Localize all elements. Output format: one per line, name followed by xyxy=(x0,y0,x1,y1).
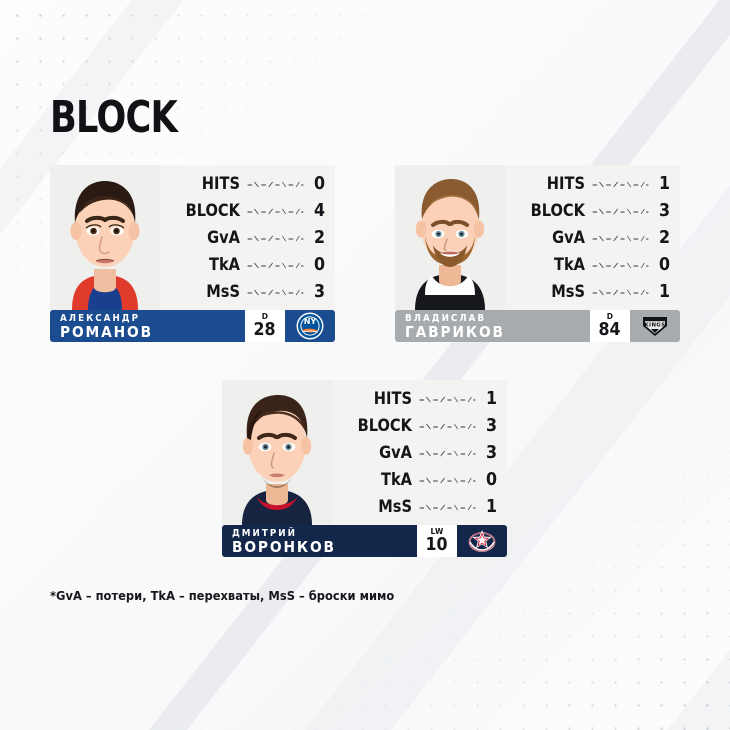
player-nameplate: ДМИТРИЙ ВОРОНКОВ LW 10 xyxy=(222,525,507,557)
player-number-block: D 84 xyxy=(590,310,630,342)
stat-label: MsS xyxy=(347,497,412,517)
stat-leader-line xyxy=(247,287,304,297)
stat-label: BLOCK xyxy=(520,201,585,221)
player-name-block: ДМИТРИЙ ВОРОНКОВ xyxy=(222,525,417,557)
kings-logo: KINGS xyxy=(630,310,680,342)
stat-label: BLOCK xyxy=(175,201,240,221)
player-card: HITS1BLOCK3GvA3TkA0MsS1 ДМИТРИЙ ВОРОНКОВ… xyxy=(222,380,507,557)
stat-label: TkA xyxy=(520,255,585,275)
player-stats-list: HITS0BLOCK4GvA2TkA0MsS3 xyxy=(160,165,335,310)
stat-value: 3 xyxy=(485,442,497,463)
player-name-block: АЛЕКСАНДР РОМАНОВ xyxy=(50,310,245,342)
stat-row: BLOCK3 xyxy=(509,197,670,224)
player-stats-list: HITS1BLOCK3GvA3TkA0MsS1 xyxy=(332,380,507,525)
stat-label: TkA xyxy=(175,255,240,275)
stat-row: TkA0 xyxy=(509,251,670,278)
player-number: 10 xyxy=(426,536,448,554)
stat-value: 0 xyxy=(658,254,670,275)
player-number-block: D 28 xyxy=(245,310,285,342)
footnote-legend: *GvA – потери, TkA – перехваты, MsS – бр… xyxy=(50,588,394,603)
stat-value: 2 xyxy=(658,227,670,248)
stat-row: GvA2 xyxy=(509,224,670,251)
svg-text:NY: NY xyxy=(304,317,317,326)
page-title: BLOCK xyxy=(50,96,177,140)
infographic-canvas: BLOCK xyxy=(0,0,730,730)
islanders-logo: NY xyxy=(285,310,335,342)
stat-row: HITS1 xyxy=(336,385,497,412)
player-card-body: HITS1BLOCK3GvA3TkA0MsS1 xyxy=(222,380,507,525)
stat-row: MsS1 xyxy=(509,278,670,305)
player-portrait-gavrikov xyxy=(395,165,505,310)
stat-label: TkA xyxy=(347,470,412,490)
stat-leader-line xyxy=(592,287,649,297)
stat-row: HITS0 xyxy=(164,170,325,197)
player-number: 28 xyxy=(254,321,276,339)
player-last-name: ГАВРИКОВ xyxy=(405,324,575,340)
stat-value: 1 xyxy=(658,173,670,194)
stat-label: MsS xyxy=(520,282,585,302)
stat-leader-line xyxy=(419,421,476,431)
stat-row: TkA0 xyxy=(336,466,497,493)
stat-leader-line xyxy=(419,475,476,485)
stat-label: GvA xyxy=(175,228,240,248)
player-card-body: HITS1BLOCK3GvA2TkA0MsS1 xyxy=(395,165,680,310)
stat-leader-line xyxy=(419,502,476,512)
stat-label: GvA xyxy=(347,443,412,463)
stat-value: 3 xyxy=(485,415,497,436)
stat-label: MsS xyxy=(175,282,240,302)
stat-value: 0 xyxy=(313,173,325,194)
stat-leader-line xyxy=(419,394,476,404)
stat-leader-line xyxy=(419,448,476,458)
stat-label: GvA xyxy=(520,228,585,248)
stat-label: HITS xyxy=(175,174,240,194)
stat-leader-line xyxy=(247,260,304,270)
player-last-name: ВОРОНКОВ xyxy=(232,539,402,555)
player-last-name: РОМАНОВ xyxy=(60,324,230,340)
stat-row: BLOCK3 xyxy=(336,412,497,439)
player-portrait-romanov xyxy=(50,165,160,310)
svg-text:KINGS: KINGS xyxy=(644,323,665,329)
player-card: HITS0BLOCK4GvA2TkA0MsS3 АЛЕКСАНДР РОМАНО… xyxy=(50,165,335,342)
player-portrait-voronkov xyxy=(222,380,332,525)
stat-value: 4 xyxy=(313,200,325,221)
stat-value: 0 xyxy=(485,469,497,490)
stat-leader-line xyxy=(592,206,649,216)
stat-value: 1 xyxy=(485,496,497,517)
stat-row: TkA0 xyxy=(164,251,325,278)
player-card-body: HITS0BLOCK4GvA2TkA0MsS3 xyxy=(50,165,335,310)
player-name-block: ВЛАДИСЛАВ ГАВРИКОВ xyxy=(395,310,590,342)
player-card: HITS1BLOCK3GvA2TkA0MsS1 ВЛАДИСЛАВ ГАВРИК… xyxy=(395,165,680,342)
stat-label: HITS xyxy=(347,389,412,409)
stat-value: 0 xyxy=(313,254,325,275)
stat-value: 3 xyxy=(658,200,670,221)
stat-leader-line xyxy=(247,233,304,243)
stat-leader-line xyxy=(592,179,649,189)
stat-row: GvA2 xyxy=(164,224,325,251)
player-nameplate: АЛЕКСАНДР РОМАНОВ D 28 NY xyxy=(50,310,335,342)
stat-label: BLOCK xyxy=(347,416,412,436)
stat-value: 1 xyxy=(658,281,670,302)
stat-row: GvA3 xyxy=(336,439,497,466)
stat-leader-line xyxy=(247,179,304,189)
stat-value: 3 xyxy=(313,281,325,302)
stat-leader-line xyxy=(592,233,649,243)
stat-row: HITS1 xyxy=(509,170,670,197)
stat-leader-line xyxy=(592,260,649,270)
player-stats-list: HITS1BLOCK3GvA2TkA0MsS1 xyxy=(505,165,680,310)
stat-value: 2 xyxy=(313,227,325,248)
stat-label: HITS xyxy=(520,174,585,194)
player-number: 84 xyxy=(599,321,621,339)
player-nameplate: ВЛАДИСЛАВ ГАВРИКОВ D 84 KINGS xyxy=(395,310,680,342)
stat-row: MsS3 xyxy=(164,278,325,305)
bluejackets-logo xyxy=(457,525,507,557)
player-number-block: LW 10 xyxy=(417,525,457,557)
stat-leader-line xyxy=(247,206,304,216)
stat-value: 1 xyxy=(485,388,497,409)
stat-row: MsS1 xyxy=(336,493,497,520)
stat-row: BLOCK4 xyxy=(164,197,325,224)
